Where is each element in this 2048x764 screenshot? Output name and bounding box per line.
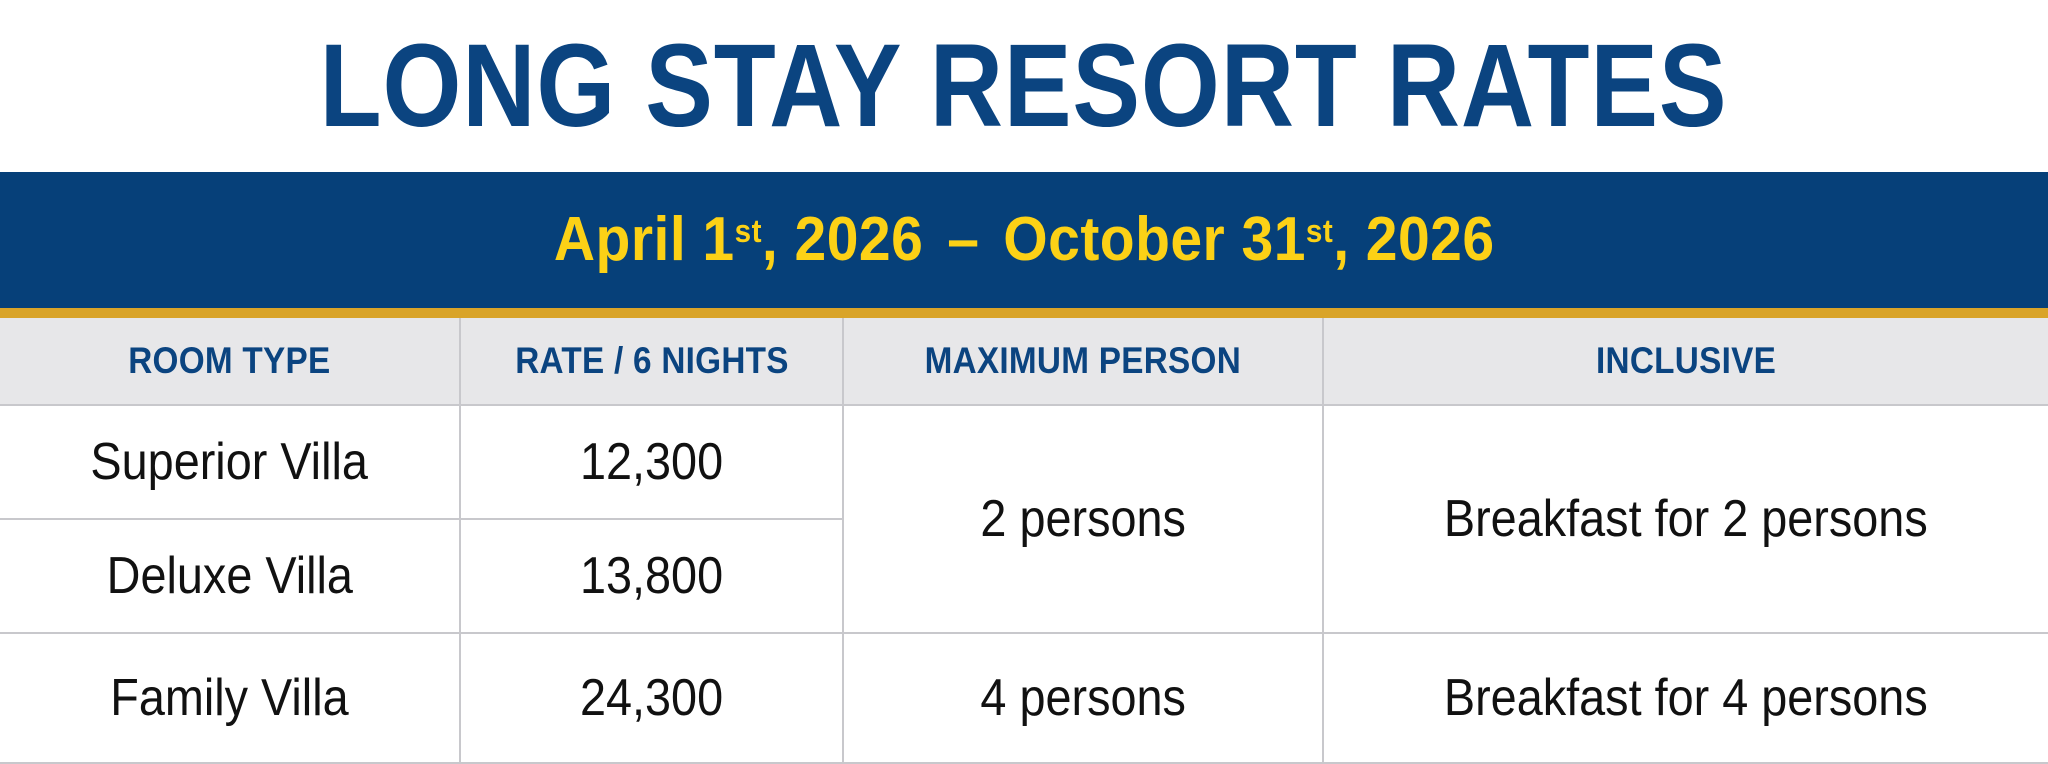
cell-room-type: Superior Villa bbox=[0, 405, 460, 519]
cell-rate: 13,800 bbox=[460, 519, 843, 633]
cell-maximum-person: 4 persons bbox=[843, 633, 1323, 763]
cell-maximum-person: 2 persons bbox=[843, 405, 1323, 633]
date-range-dash: – bbox=[923, 209, 1003, 271]
cell-inclusive: Breakfast for 2 persons bbox=[1323, 405, 2048, 633]
title-bar: LONG STAY RESORT RATES bbox=[0, 0, 2048, 172]
date-range-band: April 1st, 2026 – October 31st, 2026 bbox=[0, 172, 2048, 308]
column-header-maximum-person: MAXIMUM PERSON bbox=[843, 318, 1323, 405]
cell-rate: 12,300 bbox=[460, 405, 843, 519]
column-header-room-type: ROOM TYPE bbox=[0, 318, 460, 405]
page-title: LONG STAY RESORT RATES bbox=[320, 27, 1728, 145]
cell-inclusive: Breakfast for 4 persons bbox=[1323, 633, 2048, 763]
end-date: October 31 bbox=[1003, 209, 1306, 271]
end-date-year: , 2026 bbox=[1333, 209, 1494, 271]
table-row: Superior Villa 12,300 2 persons Breakfas… bbox=[0, 405, 2048, 519]
rates-table: ROOM TYPE RATE / 6 NIGHTS MAXIMUM PERSON… bbox=[0, 318, 2048, 764]
rate-card: LONG STAY RESORT RATES April 1st, 2026 –… bbox=[0, 0, 2048, 762]
table-header-row: ROOM TYPE RATE / 6 NIGHTS MAXIMUM PERSON… bbox=[0, 318, 2048, 405]
cell-rate: 24,300 bbox=[460, 633, 843, 763]
cell-room-type: Deluxe Villa bbox=[0, 519, 460, 633]
table-row: Family Villa 24,300 4 persons Breakfast … bbox=[0, 633, 2048, 763]
gold-divider-rule bbox=[0, 308, 2048, 318]
date-range-text: April 1st, 2026 – October 31st, 2026 bbox=[554, 209, 1495, 271]
cell-room-type: Family Villa bbox=[0, 633, 460, 763]
start-date: April 1 bbox=[554, 209, 735, 271]
column-header-inclusive: INCLUSIVE bbox=[1323, 318, 2048, 405]
start-date-year: , 2026 bbox=[762, 209, 923, 271]
column-header-rate: RATE / 6 NIGHTS bbox=[460, 318, 843, 405]
